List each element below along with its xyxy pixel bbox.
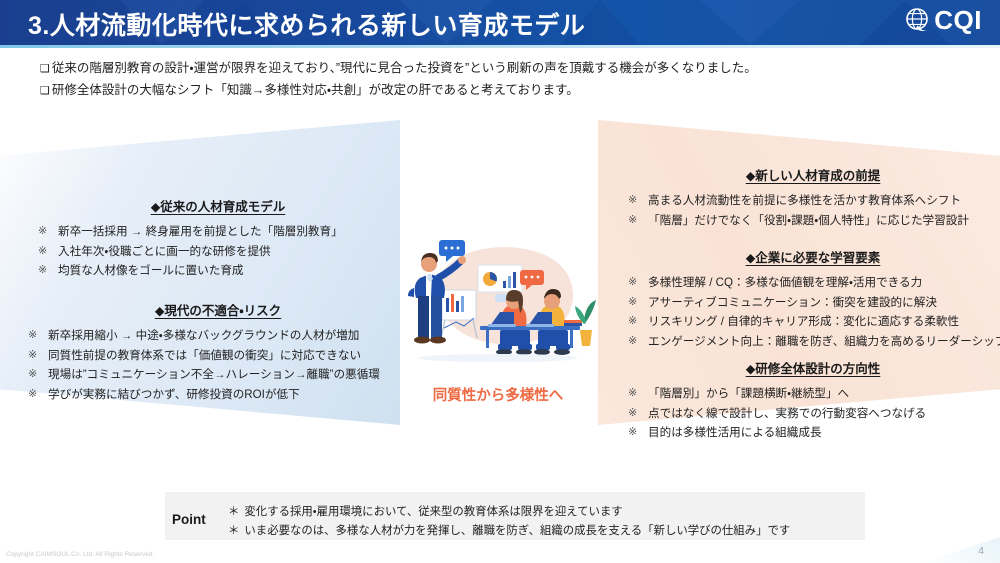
- point-marker: ＊: [228, 506, 239, 518]
- list-item-text: 現場は”コミュニケーション不全→ハレーション→離職”の悪循環: [48, 365, 380, 385]
- illustration-caption: 同質性から多様性へ: [398, 384, 598, 405]
- point-line-text: 変化する採用・雇用環境において、従来型の教育体系は限界を迎えています: [244, 506, 622, 518]
- list-item: ※ リスキリング / 自律的キャリア形成：変化に適応する柔軟性: [628, 312, 998, 332]
- header-divider: [0, 45, 1000, 48]
- point-lines: ＊変化する採用・雇用環境において、従来型の教育体系は限界を迎えています ＊いま必…: [228, 503, 790, 541]
- left-section-risks: ◆現代の不適合・リスク ※ 新卒採用縮小 → 中途・多様なバックグラウンドの人材…: [28, 300, 408, 404]
- list-item-text: エンゲージメント向上：離職を防ぎ、組織力を高めるリーダーシップ: [648, 332, 1000, 352]
- list-marker: ※: [38, 261, 58, 281]
- lead-line: ❑従来の階層別教育の設計・運営が限界を迎えており、”現代に見合った投資を”という…: [40, 58, 920, 80]
- list-item: ※ 目的は多様性活用による組織成長: [628, 423, 998, 443]
- list-item: ※ 均質な人材像をゴールに置いた育成: [38, 261, 398, 281]
- logo-text: CQI: [934, 7, 982, 33]
- list-item: ※ アサーティブコミュニケーション：衝突を建設的に解決: [628, 293, 998, 313]
- lead-bullet-marker: ❑: [40, 85, 50, 97]
- list-item: ※ 現場は”コミュニケーション不全→ハレーション→離職”の悪循環: [28, 365, 408, 385]
- list-item: ※ 高まる人材流動性を前提に多様性を活かす教育体系へシフト: [628, 191, 998, 211]
- list-item: ※ エンゲージメント向上：離職を防ぎ、組織力を高めるリーダーシップ: [628, 332, 998, 352]
- list-item-text: 同質性前提の教育体系では「価値観の衝突」に対応できない: [48, 346, 361, 366]
- right-section-new-premise: ◆新しい人材育成の前提 ※ 高まる人材流動性を前提に多様性を活かす教育体系へシフ…: [628, 165, 998, 230]
- list-item-text: 均質な人材像をゴールに置いた育成: [58, 261, 244, 281]
- list-item-text: 目的は多様性活用による組織成長: [648, 423, 822, 443]
- list-marker: ※: [28, 326, 48, 346]
- section-title: ◆現代の不適合・リスク: [28, 300, 408, 319]
- list-marker: ※: [628, 273, 648, 293]
- list-marker: ※: [628, 384, 648, 404]
- list-item-text: 多様性理解 / CQ：多様な価値観を理解・活用できる力: [648, 273, 922, 293]
- point-label: Point: [172, 512, 206, 527]
- globe-icon: [905, 7, 931, 33]
- list-item-text: 高まる人材流動性を前提に多様性を活かす教育体系へシフト: [648, 191, 961, 211]
- section-title: ◆企業に必要な学習要素: [628, 247, 998, 266]
- right-section-learning-elements: ◆企業に必要な学習要素 ※ 多様性理解 / CQ：多様な価値観を理解・活用できる…: [628, 247, 998, 351]
- section-title: ◆新しい人材育成の前提: [628, 165, 998, 184]
- list-item: ※ 多様性理解 / CQ：多様な価値観を理解・活用できる力: [628, 273, 998, 293]
- list-item: ※ 同質性前提の教育体系では「価値観の衝突」に対応できない: [28, 346, 408, 366]
- list-item: ※ 新卒採用縮小 → 中途・多様なバックグラウンドの人材が増加: [28, 326, 408, 346]
- lead-bullet-marker: ❑: [40, 63, 50, 75]
- list-item-text: 入社年次・役職ごとに画一的な研修を提供: [58, 242, 271, 262]
- page-number: 4: [978, 545, 984, 557]
- lead-bullets: ❑従来の階層別教育の設計・運営が限界を迎えており、”現代に見合った投資を”という…: [40, 58, 920, 102]
- list-item-text: リスキリング / 自律的キャリア形成：変化に適応する柔軟性: [648, 312, 959, 332]
- cqi-logo: CQI: [905, 7, 982, 33]
- list-marker: ※: [28, 346, 48, 366]
- list-item: ※ 学びが実務に結びつかず、研修投資のROIが低下: [28, 385, 408, 405]
- lead-line-text: 研修全体設計の大幅なシフト「知識→多様性対応・共創」が改定の肝であると考えており…: [52, 83, 579, 97]
- list-item-text: 新卒採用縮小 → 中途・多様なバックグラウンドの人材が増加: [48, 326, 359, 346]
- page-title: 3.人材流動化時代に求められる新しい育成モデル: [28, 6, 585, 42]
- slide: 3.人材流動化時代に求められる新しい育成モデル CQI ❑従来の階層別教育の設計…: [0, 0, 1000, 563]
- right-section-direction: ◆研修全体設計の方向性 ※ 「階層別」から「課題横断・継続型」へ ※ 点ではなく…: [628, 358, 998, 443]
- list-item-text: 学びが実務に結びつかず、研修投資のROIが低下: [48, 385, 300, 405]
- header-pattern-5: [700, 0, 800, 45]
- footer-corner-decoration: [922, 537, 1000, 563]
- list-marker: ※: [628, 312, 648, 332]
- section-title: ◆従来の人材育成モデル: [38, 196, 398, 215]
- list-item: ※ 入社年次・役職ごとに画一的な研修を提供: [38, 242, 398, 262]
- list-marker: ※: [628, 404, 648, 424]
- list-item: ※ 新卒一括採用 → 終身雇用を前提とした「階層別教育」: [38, 222, 398, 242]
- list-item-text: 「階層」だけでなく「役割・課題・個人特性」に応じた学習設計: [648, 211, 969, 231]
- list-item-text: 「階層別」から「課題横断・継続型」へ: [648, 384, 849, 404]
- slide-header: 3.人材流動化時代に求められる新しい育成モデル CQI: [0, 0, 1000, 45]
- list-marker: ※: [28, 365, 48, 385]
- list-item: ※ 「階層別」から「課題横断・継続型」へ: [628, 384, 998, 404]
- point-line: ＊変化する採用・雇用環境において、従来型の教育体系は限界を迎えています: [228, 503, 790, 522]
- list-marker: ※: [628, 211, 648, 231]
- list-item-text: 点ではなく線で設計し、実務での行動変容へつなげる: [648, 404, 926, 424]
- left-section-legacy-model: ◆従来の人材育成モデル ※ 新卒一括採用 → 終身雇用を前提とした「階層別教育」…: [38, 196, 398, 281]
- point-line-text: いま必要なのは、多様な人材が力を発揮し、離職を防ぎ、組織の成長を支える「新しい学…: [244, 525, 790, 537]
- lead-line-text: 従来の階層別教育の設計・運営が限界を迎えており、”現代に見合った投資を”という刷…: [52, 61, 757, 75]
- list-marker: ※: [628, 423, 648, 443]
- list-item-text: 新卒一括採用 → 終身雇用を前提とした「階層別教育」: [58, 222, 343, 242]
- copyright-text: Copyright CAIMSOUL Co. Ltd. All Rights R…: [6, 551, 154, 558]
- list-marker: ※: [628, 191, 648, 211]
- list-marker: ※: [28, 385, 48, 405]
- list-marker: ※: [628, 332, 648, 352]
- point-marker: ＊: [228, 525, 239, 537]
- list-marker: ※: [38, 242, 58, 262]
- section-title: ◆研修全体設計の方向性: [628, 358, 998, 377]
- list-item: ※ 点ではなく線で設計し、実務での行動変容へつなげる: [628, 404, 998, 424]
- list-item-text: アサーティブコミュニケーション：衝突を建設的に解決: [648, 293, 937, 313]
- list-marker: ※: [38, 222, 58, 242]
- list-marker: ※: [628, 293, 648, 313]
- lead-line: ❑研修全体設計の大幅なシフト「知識→多様性対応・共創」が改定の肝であると考えてお…: [40, 80, 920, 102]
- list-item: ※ 「階層」だけでなく「役割・課題・個人特性」に応じた学習設計: [628, 211, 998, 231]
- training-meeting-illustration: [398, 238, 598, 378]
- point-line: ＊いま必要なのは、多様な人材が力を発揮し、離職を防ぎ、組織の成長を支える「新しい…: [228, 522, 790, 541]
